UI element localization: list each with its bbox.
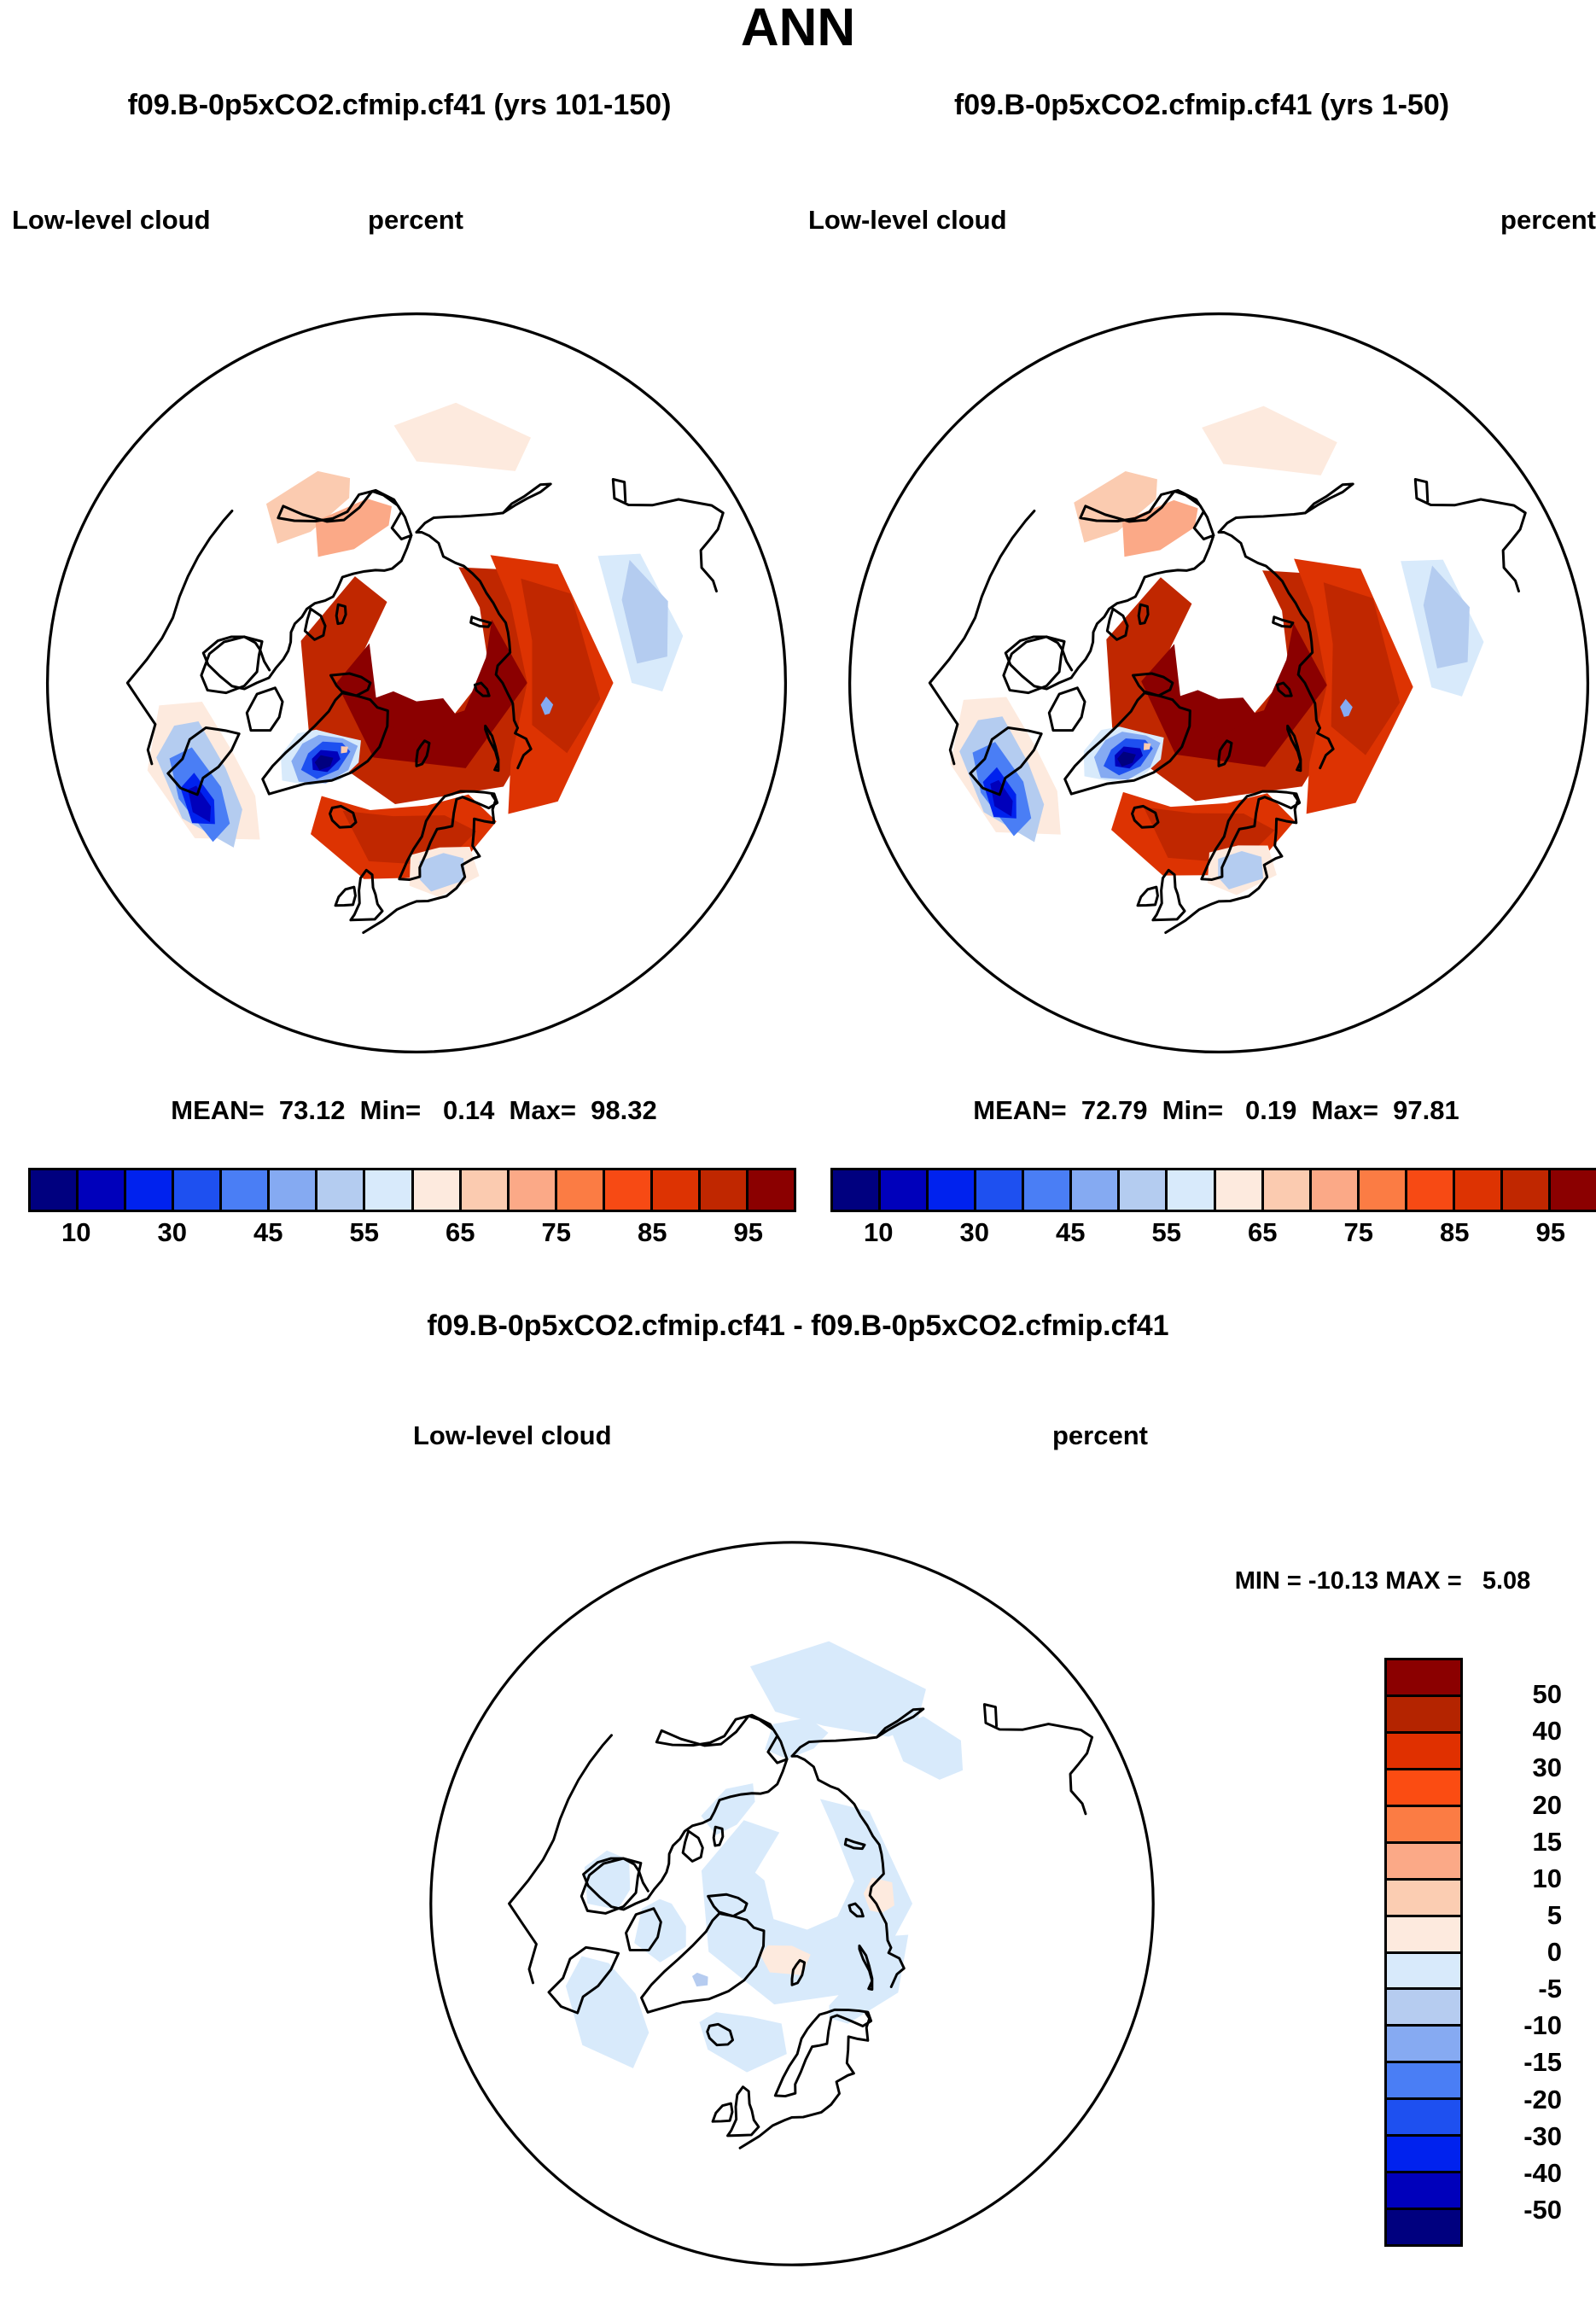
colorbar-difference-ticks: 50403020151050-5-10-15-20-30-40-50 — [1470, 1658, 1589, 2247]
panel-label-row-right: Low-level cloud percent — [798, 205, 1596, 241]
coastline-16 — [1049, 688, 1085, 731]
coastline-4 — [713, 2103, 732, 2121]
colorbar-difference-tick-neg10: -10 — [1470, 2010, 1562, 2041]
colorbar-cell-5 — [270, 1170, 317, 1210]
difference-title: f09.B-0p5xCO2.cfmip.cf41 - f09.B-0p5xCO2… — [0, 1309, 1596, 1343]
colorbar-difference-cell-10 — [1387, 2027, 1460, 2063]
colorbar-difference-cell-5 — [1387, 1844, 1460, 1881]
colorbar-right-ticks: 1030455565758595 — [830, 1212, 1596, 1255]
colorbar-difference-cell-8 — [1387, 1954, 1460, 1991]
colorbar-difference-cell-9 — [1387, 1990, 1460, 2027]
colorbar-tick-10: 10 — [864, 1217, 893, 1248]
coastline-2 — [775, 2009, 871, 2096]
colorbar-difference-cell-13 — [1387, 2137, 1460, 2173]
stats-right: MEAN= 72.79 Min= 0.19 Max= 97.81 — [819, 1095, 1596, 1133]
polar-map-right-svg — [818, 282, 1596, 1084]
colorbar-cell-4 — [1024, 1170, 1072, 1210]
colorbar-right: 1030455565758595 — [830, 1168, 1596, 1260]
map-fill-layer — [566, 1548, 963, 2072]
coastline-11 — [416, 484, 550, 532]
coastline-4 — [1138, 887, 1157, 906]
colorbar-difference: 50403020151050-5-10-15-20-30-40-50 — [1384, 1658, 1589, 2247]
colorbar-difference-tick-10: 10 — [1470, 1863, 1562, 1894]
colorbar-cell-10 — [510, 1170, 557, 1210]
colorbar-difference-cells — [1384, 1658, 1463, 2247]
colorbar-left-cells — [28, 1168, 796, 1212]
coastline-layer — [510, 1705, 1092, 2149]
unit-label-left: percent — [368, 205, 463, 236]
colorbar-tick-95: 95 — [734, 1217, 763, 1248]
polar-map-left — [15, 282, 818, 1084]
colorbar-difference-cell-6 — [1387, 1881, 1460, 1917]
colorbar-difference-tick-50: 50 — [1470, 1679, 1562, 1710]
colorbar-difference-cell-3 — [1387, 1770, 1460, 1807]
colorbar-cell-3 — [174, 1170, 222, 1210]
colorbar-cell-11 — [1360, 1170, 1407, 1210]
colorbar-difference-tick-20: 20 — [1470, 1790, 1562, 1821]
colorbar-difference-tick-neg5: -5 — [1470, 1974, 1562, 2004]
colorbar-difference-cell-15 — [1387, 2210, 1460, 2244]
colorbar-cell-14 — [701, 1170, 748, 1210]
contour-band-23 — [394, 403, 531, 471]
colorbar-right-cells — [830, 1168, 1596, 1212]
difference-label-row: Low-level cloud percent — [0, 1420, 1596, 1458]
unit-label-difference: percent — [1052, 1420, 1148, 1451]
colorbar-cell-7 — [1168, 1170, 1215, 1210]
colorbar-tick-30: 30 — [960, 1217, 989, 1248]
difference-stats: MIN = -10.13 MAX = 5.08 — [1178, 1567, 1587, 1595]
colorbar-cell-12 — [605, 1170, 653, 1210]
polar-map-left-svg — [15, 282, 818, 1084]
colorbar-tick-65: 65 — [1248, 1217, 1277, 1248]
colorbar-difference-tick-40: 40 — [1470, 1716, 1562, 1747]
colorbar-tick-65: 65 — [446, 1217, 475, 1248]
colorbar-tick-30: 30 — [158, 1217, 187, 1248]
variable-label-right: Low-level cloud — [808, 205, 1007, 236]
coastline-16 — [247, 688, 283, 731]
colorbar-cell-15 — [1551, 1170, 1596, 1210]
colorbar-cell-13 — [1455, 1170, 1503, 1210]
colorbar-cell-5 — [1072, 1170, 1120, 1210]
contour-band-0 — [1218, 324, 1290, 685]
colorbar-tick-45: 45 — [253, 1217, 283, 1248]
colorbar-tick-55: 55 — [350, 1217, 379, 1248]
colorbar-cell-1 — [881, 1170, 929, 1210]
colorbar-cell-8 — [414, 1170, 462, 1210]
colorbar-difference-tick-neg20: -20 — [1470, 2085, 1562, 2115]
map-fill-layer — [148, 319, 684, 897]
colorbar-difference-tick-0: 0 — [1470, 1937, 1562, 1968]
colorbar-difference-cell-4 — [1387, 1807, 1460, 1844]
colorbar-difference-tick-5: 5 — [1470, 1900, 1562, 1931]
variable-label-left: Low-level cloud — [12, 205, 211, 236]
case-title-left: f09.B-0p5xCO2.cfmip.cf41 (yrs 101-150) — [7, 89, 792, 122]
colorbar-difference-cell-0 — [1387, 1660, 1460, 1697]
colorbar-cell-9 — [462, 1170, 510, 1210]
case-title-right: f09.B-0p5xCO2.cfmip.cf41 (yrs 1-50) — [809, 89, 1594, 122]
colorbar-cell-14 — [1503, 1170, 1551, 1210]
colorbar-difference-tick-neg50: -50 — [1470, 2195, 1562, 2225]
colorbar-cell-12 — [1407, 1170, 1455, 1210]
colorbar-left-ticks: 1030455565758595 — [28, 1212, 796, 1255]
colorbar-difference-cell-12 — [1387, 2100, 1460, 2137]
colorbar-cell-2 — [126, 1170, 174, 1210]
colorbar-difference-cell-11 — [1387, 2063, 1460, 2100]
colorbar-cell-8 — [1216, 1170, 1264, 1210]
contour-band-9 — [692, 1973, 708, 1986]
colorbar-cell-6 — [1120, 1170, 1168, 1210]
unit-label-right: percent — [1500, 205, 1596, 236]
colorbar-tick-95: 95 — [1536, 1217, 1565, 1248]
coastline-11 — [1219, 484, 1353, 532]
polar-map-difference-svg — [399, 1511, 1185, 2296]
colorbar-cell-2 — [929, 1170, 976, 1210]
colorbar-cell-10 — [1312, 1170, 1360, 1210]
colorbar-difference-cell-1 — [1387, 1697, 1460, 1734]
colorbar-cell-0 — [833, 1170, 881, 1210]
page-title: ANN — [0, 2, 1596, 55]
colorbar-difference-cell-7 — [1387, 1917, 1460, 1954]
panel-label-row-left: Low-level cloud percent — [0, 205, 798, 241]
colorbar-cell-9 — [1264, 1170, 1312, 1210]
colorbar-cell-4 — [222, 1170, 270, 1210]
colorbar-difference-tick-30: 30 — [1470, 1753, 1562, 1783]
polar-map-difference — [399, 1511, 1185, 2296]
coastline-14 — [683, 1831, 702, 1861]
colorbar-difference-tick-neg15: -15 — [1470, 2047, 1562, 2078]
map-fill-layer — [950, 324, 1483, 895]
colorbar-tick-85: 85 — [638, 1217, 667, 1248]
figure-page: ANN f09.B-0p5xCO2.cfmip.cf41 (yrs 101-15… — [0, 0, 1596, 2298]
colorbar-tick-45: 45 — [1056, 1217, 1085, 1248]
contour-band-0 — [416, 319, 481, 683]
colorbar-tick-10: 10 — [61, 1217, 90, 1248]
colorbar-difference-tick-neg30: -30 — [1470, 2121, 1562, 2152]
contour-band-23 — [1202, 406, 1337, 475]
colorbar-cell-7 — [365, 1170, 413, 1210]
colorbar-difference-tick-neg40: -40 — [1470, 2158, 1562, 2189]
colorbar-tick-55: 55 — [1152, 1217, 1181, 1248]
colorbar-cell-0 — [31, 1170, 79, 1210]
colorbar-left: 1030455565758595 — [28, 1168, 796, 1260]
colorbar-cell-15 — [748, 1170, 794, 1210]
colorbar-cell-1 — [79, 1170, 126, 1210]
polar-map-right — [818, 282, 1596, 1084]
stats-left: MEAN= 73.12 Min= 0.14 Max= 98.32 — [17, 1095, 811, 1133]
colorbar-cell-6 — [317, 1170, 365, 1210]
colorbar-cell-13 — [653, 1170, 701, 1210]
coastline-4 — [335, 887, 355, 906]
colorbar-cell-3 — [976, 1170, 1024, 1210]
colorbar-difference-tick-15: 15 — [1470, 1827, 1562, 1858]
colorbar-tick-75: 75 — [1344, 1217, 1373, 1248]
colorbar-tick-75: 75 — [542, 1217, 571, 1248]
variable-label-difference: Low-level cloud — [413, 1420, 612, 1451]
colorbar-difference-cell-14 — [1387, 2173, 1460, 2210]
colorbar-cell-11 — [557, 1170, 605, 1210]
colorbar-tick-85: 85 — [1440, 1217, 1469, 1248]
coastline-19 — [984, 1705, 1092, 1814]
colorbar-difference-cell-2 — [1387, 1734, 1460, 1770]
